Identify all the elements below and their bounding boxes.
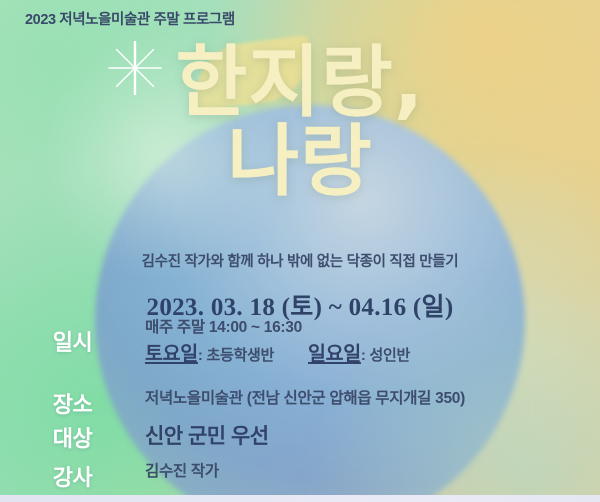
info-row-schedule: 일시 매주 주말 14:00 ~ 16:30 토요일: 초등학생반일요일: 성인…	[0, 316, 600, 370]
poster-tagline: 김수진 작가와 함께 하나 밖에 없는 닥종이 직접 만들기	[0, 250, 600, 271]
info-value-instructor: 김수진 작가	[145, 460, 600, 483]
title-line-2: 나랑	[0, 125, 600, 200]
program-kicker: 2023 저녁노을미술관 주말 프로그램	[25, 8, 235, 29]
info-label-venue: 장소	[0, 387, 145, 419]
saturday-class: : 초등학생반	[198, 347, 274, 364]
audience-text: 신안 군민 우선	[145, 421, 600, 453]
saturday-label: 토요일	[145, 343, 198, 365]
info-row-venue: 장소 저녁노을미술관 (전남 신안군 압해읍 무지개길 350)	[0, 387, 600, 419]
info-value-schedule: 매주 주말 14:00 ~ 16:30 토요일: 초등학생반일요일: 성인반	[145, 316, 600, 370]
sunday-class: : 성인반	[361, 347, 410, 364]
instructor-text: 김수진 작가	[145, 460, 600, 483]
event-poster: 2023 저녁노을미술관 주말 프로그램 한지랑, 나랑 김수진 작가와 함께 …	[0, 0, 600, 502]
info-label-instructor: 강사	[0, 460, 145, 492]
info-label-audience: 대상	[0, 421, 145, 453]
venue-text: 저녁노을미술관 (전남 신안군 압해읍 무지개길 350)	[145, 387, 600, 410]
poster-title: 한지랑, 나랑	[0, 46, 600, 200]
title-line-1: 한지랑,	[0, 46, 600, 121]
schedule-sessions: 토요일: 초등학생반일요일: 성인반	[145, 340, 600, 369]
schedule-time: 매주 주말 14:00 ~ 16:30	[145, 316, 600, 339]
info-label-schedule: 일시	[0, 316, 145, 357]
info-row-instructor: 강사 김수진 작가	[0, 460, 600, 492]
info-value-venue: 저녁노을미술관 (전남 신안군 압해읍 무지개길 350)	[145, 387, 600, 410]
sunday-label: 일요일	[308, 343, 361, 365]
page-bottom-strip	[0, 495, 600, 502]
poster-content: 2023 저녁노을미술관 주말 프로그램 한지랑, 나랑 김수진 작가와 함께 …	[0, 0, 600, 502]
info-row-audience: 대상 신안 군민 우선	[0, 421, 600, 453]
info-value-audience: 신안 군민 우선	[145, 421, 600, 453]
